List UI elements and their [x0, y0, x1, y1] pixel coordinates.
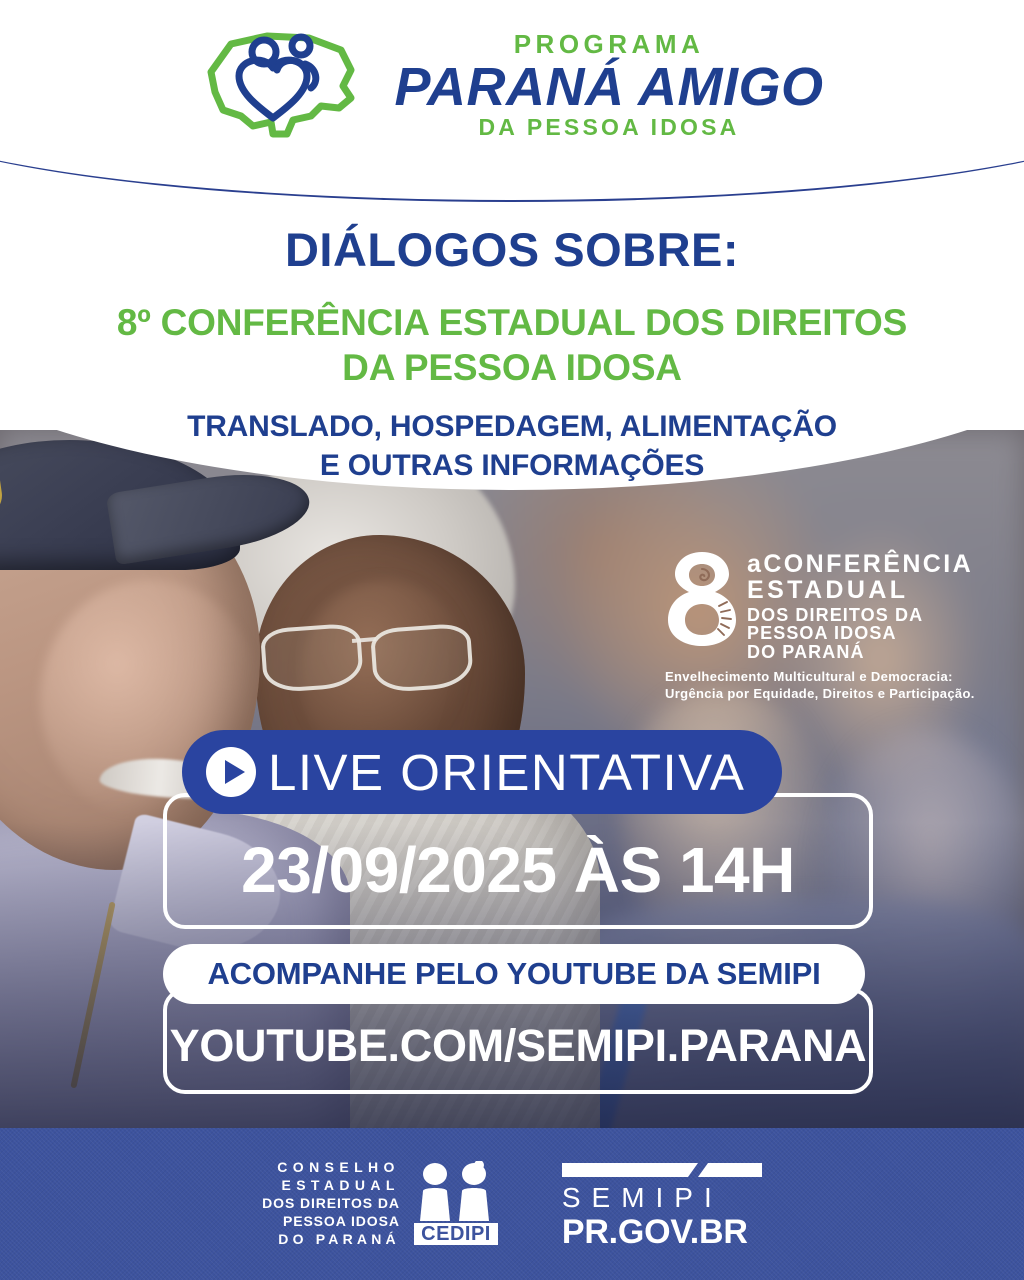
badge-ordinal: a — [747, 550, 763, 578]
badge-tagline-line1: Envelhecimento Multicultural e Democraci… — [665, 668, 1005, 685]
cedipi-logo: CONSELHO ESTADUAL DOS DIREITOS DA PESSOA… — [262, 1159, 504, 1249]
live-label: LIVE ORIENTATIVA — [268, 743, 745, 802]
details-line1: TRANSLADO, HOSPEDAGEM, ALIMENTAÇÃO — [90, 407, 934, 446]
cedipi-line1: CONSELHO — [277, 1159, 400, 1177]
conference-title-line1: 8º CONFERÊNCIA ESTADUAL DOS DIREITOS — [70, 300, 954, 345]
semipi-url: PR.GOV.BR — [562, 1215, 762, 1249]
badge-conferencia: CONFERÊNCIA — [763, 550, 973, 578]
live-date-time: 23/09/2025 ÀS 14H — [241, 833, 795, 907]
cedipi-line5: DO PARANÁ — [278, 1231, 400, 1249]
semipi-bars-icon — [562, 1160, 762, 1180]
badge-tagline: Envelhecimento Multicultural e Democraci… — [665, 668, 1005, 703]
youtube-url[interactable]: YOUTUBE.COM/SEMIPI.PARANA — [170, 1020, 867, 1072]
poster-root: PROGRAMA PARANÁ AMIGO DA PESSOA IDOSA DI… — [0, 0, 1024, 1280]
conference-title: 8º CONFERÊNCIA ESTADUAL DOS DIREITOS DA … — [0, 300, 1024, 390]
youtube-cta-pill: ACOMPANHE PELO YOUTUBE DA SEMIPI — [163, 944, 865, 1004]
badge-line3: DOS DIREITOS DA — [747, 606, 973, 624]
conference-eight-logo-icon — [665, 550, 739, 648]
footer-bar: CONSELHO ESTADUAL DOS DIREITOS DA PESSOA… — [0, 1128, 1024, 1280]
parana-map-heart-people-icon — [201, 24, 377, 146]
youtube-cta-label: ACOMPANHE PELO YOUTUBE DA SEMIPI — [207, 956, 820, 992]
program-logo: PROGRAMA PARANÁ AMIGO DA PESSOA IDOSA — [0, 22, 1024, 147]
cedipi-line3: DOS DIREITOS DA — [262, 1195, 400, 1213]
logo-programa-label: PROGRAMA — [514, 31, 705, 57]
badge-line5: DO PARANÁ — [747, 643, 973, 661]
title-block: DIÁLOGOS SOBRE: 8º CONFERÊNCIA ESTADUAL … — [0, 225, 1024, 485]
logo-subtitle: DA PESSOA IDOSA — [478, 116, 739, 139]
badge-line4: PESSOA IDOSA — [747, 624, 973, 642]
svg-text:CEDIPI: CEDIPI — [421, 1223, 491, 1245]
badge-line2: ESTADUAL — [747, 578, 973, 604]
cedipi-line2: ESTADUAL — [281, 1177, 399, 1195]
live-banner: LIVE ORIENTATIVA — [182, 730, 782, 814]
conference-title-line2: DA PESSOA IDOSA — [70, 345, 954, 390]
semipi-name: SEMIPI — [562, 1184, 762, 1212]
badge-tagline-line2: Urgência por Equidade, Direitos e Partic… — [665, 685, 1005, 702]
details-line2: E OUTRAS INFORMAÇÕES — [90, 446, 934, 485]
conference-badge: aCONFERÊNCIA ESTADUAL DOS DIREITOS DA PE… — [665, 548, 1005, 693]
page-title: DIÁLOGOS SOBRE: — [0, 225, 1024, 274]
conference-details: TRANSLADO, HOSPEDAGEM, ALIMENTAÇÃO E OUT… — [0, 407, 1024, 485]
semipi-logo: SEMIPI PR.GOV.BR — [562, 1160, 762, 1249]
cedipi-line4: PESSOA IDOSA — [283, 1213, 400, 1231]
play-circle-icon — [204, 745, 258, 799]
logo-title: PARANÁ AMIGO — [395, 60, 824, 114]
badge-line1: aCONFERÊNCIA — [747, 552, 973, 578]
two-elderly-figures-icon: CEDIPI — [408, 1161, 504, 1247]
